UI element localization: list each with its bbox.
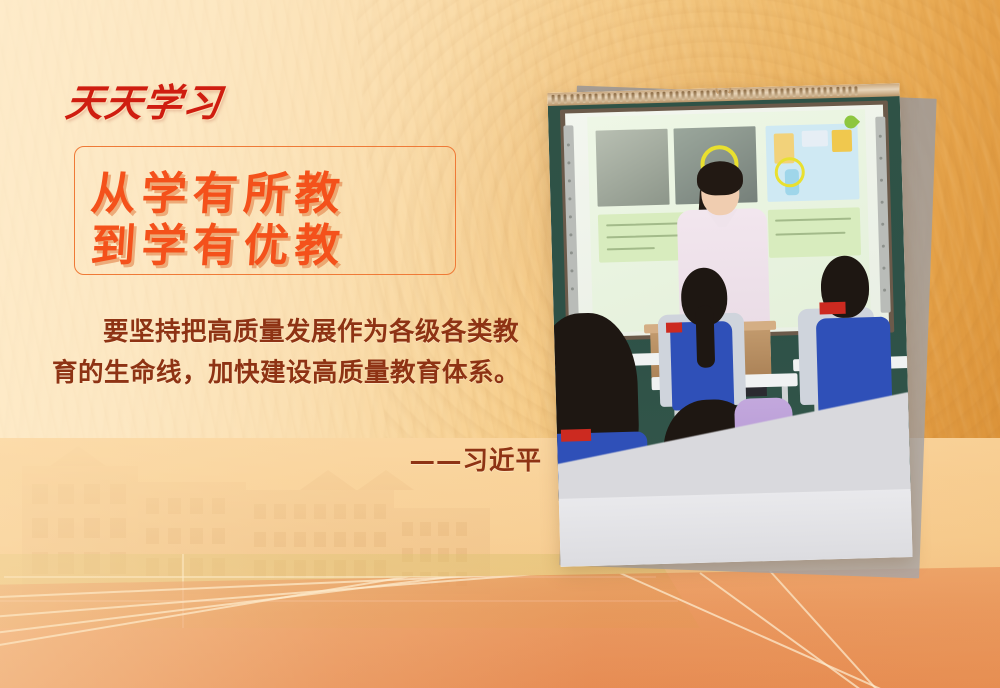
classroom-photo bbox=[548, 94, 911, 501]
poster-root: 天天学习 从学有所教 到学有优教 要坚持把高质量发展作为各级各类教育的生命线，加… bbox=[0, 0, 1000, 688]
quote-attribution: ——习近平 bbox=[52, 440, 542, 477]
quote-text: 要坚持把高质量发展作为各级各类教育的生命线，加快建设高质量教育体系。 bbox=[52, 312, 542, 394]
calendar-photo-card bbox=[548, 62, 948, 572]
photo-card bbox=[547, 83, 912, 567]
slide-photo-1 bbox=[596, 129, 670, 207]
photo-bottom-cut bbox=[556, 381, 911, 501]
teacher-hair bbox=[696, 161, 743, 196]
slide-illustration-panel bbox=[832, 130, 853, 153]
slide-illustration-box bbox=[802, 130, 828, 147]
slide-caption-box-right bbox=[768, 207, 861, 258]
brand-logo: 天天学习 bbox=[63, 72, 225, 127]
calendar-bottom-panel bbox=[559, 489, 913, 567]
headline-box: 从学有所教 到学有优教 bbox=[74, 146, 456, 275]
headline-line-2: 到学有优教 bbox=[89, 209, 349, 274]
